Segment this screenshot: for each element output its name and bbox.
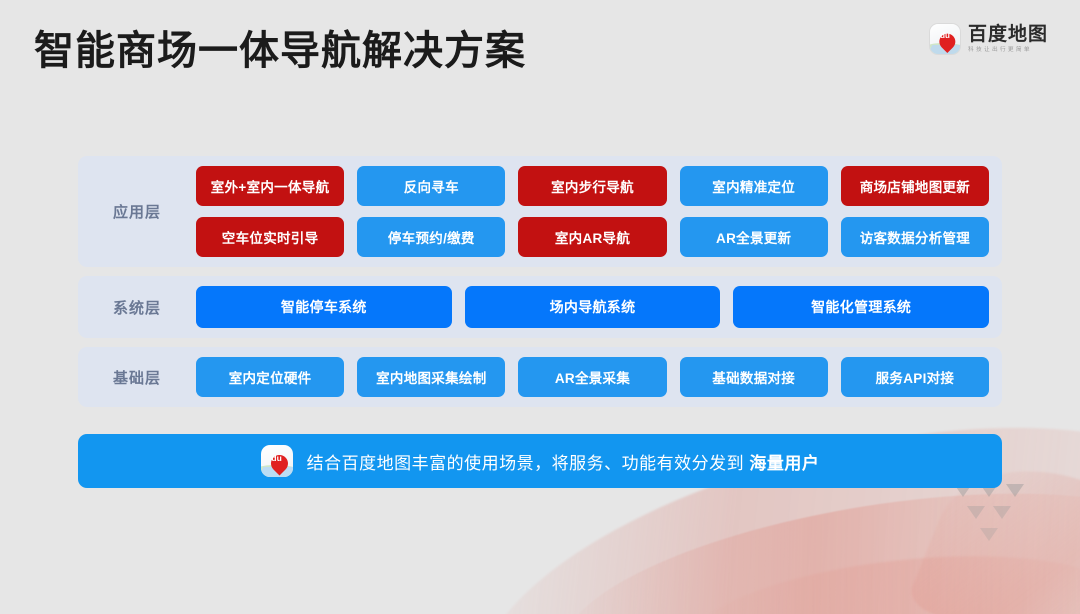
capability-card[interactable]: 访客数据分析管理 <box>841 217 989 257</box>
capability-card[interactable]: 智能化管理系统 <box>733 286 989 328</box>
banner-text-prefix: 结合百度地图丰富的使用场景，将服务、功能有效分发到 <box>307 454 750 473</box>
layer-label-system: 系统层 <box>78 297 196 318</box>
capability-card[interactable]: 空车位实时引导 <box>196 217 344 257</box>
architecture-stack: 应用层室外+室内一体导航反向寻车室内步行导航室内精准定位商场店铺地图更新空车位实… <box>78 156 1002 416</box>
logo-pin-label: du <box>937 29 953 42</box>
capability-card[interactable]: 室内AR导航 <box>518 217 666 257</box>
capability-card[interactable]: 室内精准定位 <box>680 166 828 206</box>
layer-rows-foundation: 室内定位硬件室内地图采集绘制AR全景采集基础数据对接服务API对接 <box>196 357 989 397</box>
layer-row: 智能停车系统场内导航系统智能化管理系统 <box>196 286 989 328</box>
capability-card[interactable]: AR全景采集 <box>518 357 666 397</box>
page-title: 智能商场一体导航解决方案 <box>34 18 526 76</box>
brand-slogan: 科技让出行更简单 <box>968 47 1044 53</box>
capability-card[interactable]: 室内地图采集绘制 <box>357 357 505 397</box>
capability-card[interactable]: 室内步行导航 <box>518 166 666 206</box>
page-header: 智能商场一体导航解决方案 du 百度地图 科技让出行更简单 <box>0 0 1080 106</box>
capability-card[interactable]: 室外+室内一体导航 <box>196 166 344 206</box>
capability-card[interactable]: 反向寻车 <box>357 166 505 206</box>
layer-panel-application: 应用层室外+室内一体导航反向寻车室内步行导航室内精准定位商场店铺地图更新空车位实… <box>78 156 1002 267</box>
brand-name: 百度地图 <box>968 25 1048 44</box>
decorative-swoosh-3 <box>685 538 1080 614</box>
banner-pin-label: du <box>268 451 285 465</box>
bottom-banner: du 结合百度地图丰富的使用场景，将服务、功能有效分发到 海量用户 <box>78 434 1002 488</box>
baidu-map-logo-icon: du <box>930 24 960 54</box>
capability-card[interactable]: 服务API对接 <box>841 357 989 397</box>
layer-row: 空车位实时引导停车预约/缴费室内AR导航AR全景更新访客数据分析管理 <box>196 217 989 257</box>
layer-label-application: 应用层 <box>78 201 196 222</box>
layer-rows-application: 室外+室内一体导航反向寻车室内步行导航室内精准定位商场店铺地图更新空车位实时引导… <box>196 166 989 257</box>
banner-text-highlight: 海量用户 <box>749 454 819 473</box>
capability-card[interactable]: 商场店铺地图更新 <box>841 166 989 206</box>
capability-card[interactable]: 基础数据对接 <box>680 357 828 397</box>
capability-card[interactable]: AR全景更新 <box>680 217 828 257</box>
layer-row: 室内定位硬件室内地图采集绘制AR全景采集基础数据对接服务API对接 <box>196 357 989 397</box>
capability-card[interactable]: 室内定位硬件 <box>196 357 344 397</box>
capability-card[interactable]: 停车预约/缴费 <box>357 217 505 257</box>
layer-panel-system: 系统层智能停车系统场内导航系统智能化管理系统 <box>78 276 1002 338</box>
capability-card[interactable]: 场内导航系统 <box>465 286 721 328</box>
layer-rows-system: 智能停车系统场内导航系统智能化管理系统 <box>196 286 989 328</box>
capability-card[interactable]: 智能停车系统 <box>196 286 452 328</box>
brand-logo-group: du 百度地图 科技让出行更简单 <box>930 24 1048 54</box>
banner-text: 结合百度地图丰富的使用场景，将服务、功能有效分发到 海量用户 <box>307 449 820 474</box>
layer-panel-foundation: 基础层室内定位硬件室内地图采集绘制AR全景采集基础数据对接服务API对接 <box>78 347 1002 407</box>
banner-baidu-map-icon: du <box>261 445 293 477</box>
layer-row: 室外+室内一体导航反向寻车室内步行导航室内精准定位商场店铺地图更新 <box>196 166 989 206</box>
triangle-pattern <box>954 484 1044 554</box>
layer-label-foundation: 基础层 <box>78 367 196 388</box>
